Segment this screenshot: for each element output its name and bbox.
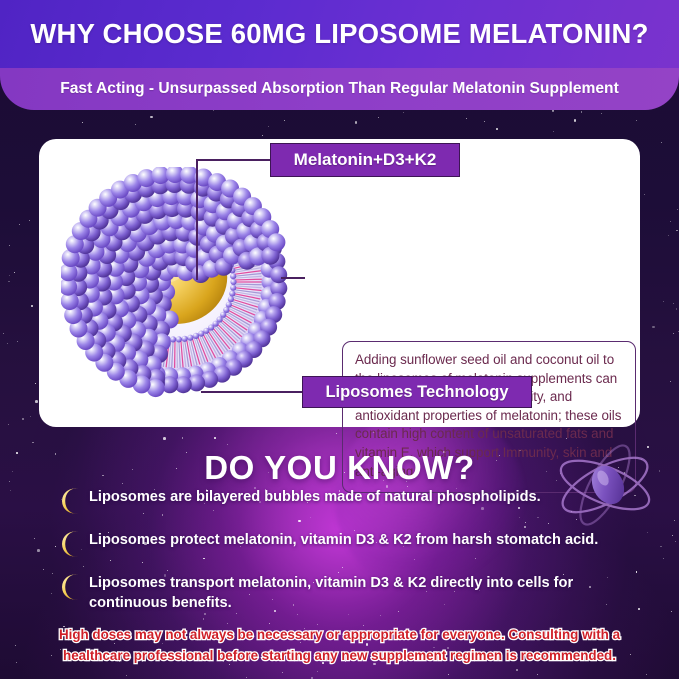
disclaimer-text: High doses may not always be necessary o… [0, 624, 679, 666]
list-item: Liposomes protect melatonin, vitamin D3 … [58, 530, 658, 559]
connector-liposomes-horizontal [201, 391, 304, 393]
list-item-text: Liposomes transport melatonin, vitamin D… [89, 573, 624, 613]
do-you-know-section: DO YOU KNOW? [0, 449, 679, 487]
header-title-band: WHY CHOOSE 60MG LIPOSOME MELATONIN? [0, 0, 679, 68]
crescent-moon-icon [58, 529, 84, 559]
header-banner: WHY CHOOSE 60MG LIPOSOME MELATONIN? Fast… [0, 0, 679, 110]
label-melatonin-text: Melatonin+D3+K2 [294, 150, 437, 170]
disclaimer: High doses may not always be necessary o… [0, 624, 679, 666]
label-liposomes-technology[interactable]: Liposomes Technology [302, 376, 532, 408]
list-item-text: Liposomes protect melatonin, vitamin D3 … [89, 530, 598, 550]
crescent-moon-icon [58, 486, 84, 516]
connector-melatonin-horizontal [196, 159, 272, 161]
list-item: Liposomes are bilayered bubbles made of … [58, 487, 658, 516]
connector-melatonin-vertical [196, 159, 198, 280]
list-item-text: Liposomes are bilayered bubbles made of … [89, 487, 541, 507]
page-subtitle: Fast Acting - Unsurpassed Absorption Tha… [60, 80, 619, 98]
crescent-moon-icon [58, 572, 84, 602]
label-melatonin-d3-k2[interactable]: Melatonin+D3+K2 [270, 143, 460, 177]
connector-infobox-left [281, 277, 305, 279]
label-liposomes-text: Liposomes Technology [325, 383, 508, 402]
benefits-list: Liposomes are bilayered bubbles made of … [58, 487, 658, 627]
section-heading: DO YOU KNOW? [0, 449, 679, 487]
header-subtitle-band: Fast Acting - Unsurpassed Absorption Tha… [0, 68, 679, 110]
liposome-cross-section-icon [61, 167, 292, 398]
page-title: WHY CHOOSE 60MG LIPOSOME MELATONIN? [30, 18, 648, 50]
list-item: Liposomes transport melatonin, vitamin D… [58, 573, 658, 613]
